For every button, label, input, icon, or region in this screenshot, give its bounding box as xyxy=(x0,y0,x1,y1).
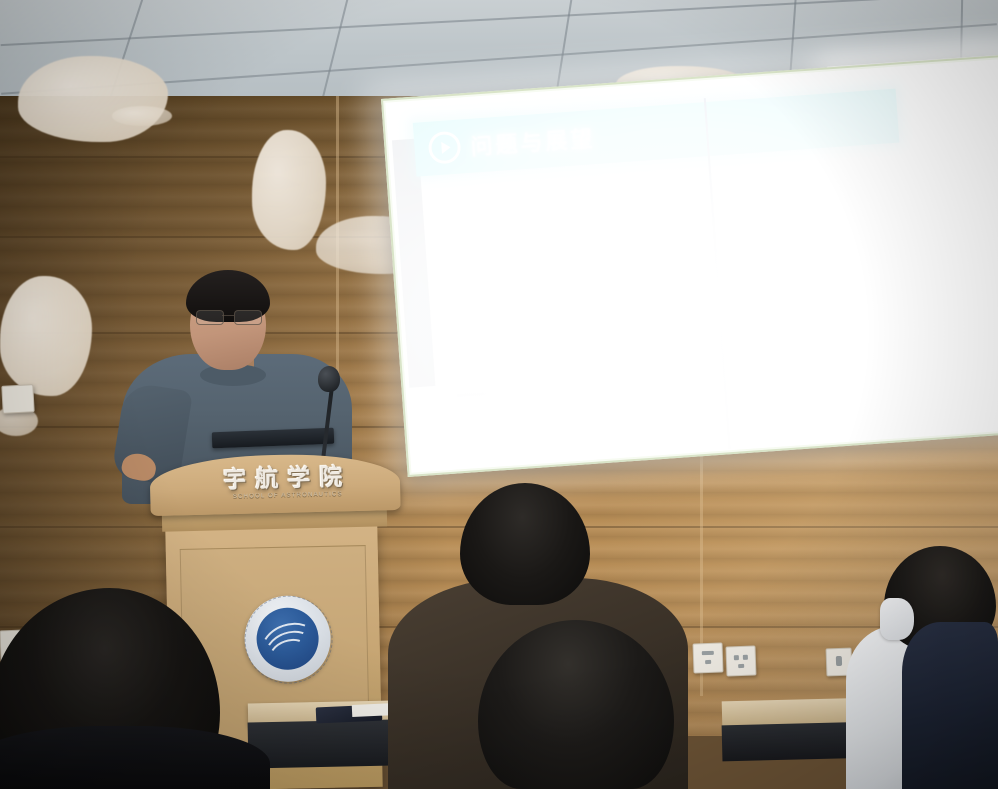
slide-body-line: · · · · · · · · xyxy=(448,196,539,217)
microphone-icon xyxy=(318,366,340,392)
wall-socket-icon xyxy=(725,645,756,676)
lectern-english-name: SCHOOL OF ASTRONAUTICS xyxy=(233,491,343,500)
lectern-header: 宇航学院 SCHOOL OF ASTRONAUTICS xyxy=(149,452,400,516)
lectern-chinese-name: 宇航学院 xyxy=(223,465,352,491)
play-circle-icon xyxy=(428,131,462,165)
glasses-icon xyxy=(196,310,262,323)
lecture-hall-photo: 问题与展望 · · · · · · · · · · · · · · · · · … xyxy=(0,0,998,789)
lectern-nameplate: 宇航学院 SCHOOL OF ASTRONAUTICS xyxy=(190,463,386,502)
slide-left-sidebar xyxy=(392,138,435,387)
audience-right-vest xyxy=(902,622,998,789)
slide-title-banner: 问题与展望 xyxy=(413,89,900,177)
university-emblem xyxy=(244,595,332,683)
presentation-slide: 问题与展望 · · · · · · · · · · · · · · · · · … xyxy=(385,59,998,472)
projection-screen: 问题与展望 · · · · · · · · · · · · · · · · · … xyxy=(381,55,998,490)
wall-plate-icon xyxy=(1,384,34,414)
screen-frame: 问题与展望 · · · · · · · · · · · · · · · · · … xyxy=(381,55,998,477)
slide-title-text: 问题与展望 xyxy=(469,121,596,162)
wall-socket-icon xyxy=(692,642,723,673)
face-mask-icon xyxy=(880,598,914,640)
slide-body-line: · · · · · · · · · · xyxy=(455,286,570,309)
